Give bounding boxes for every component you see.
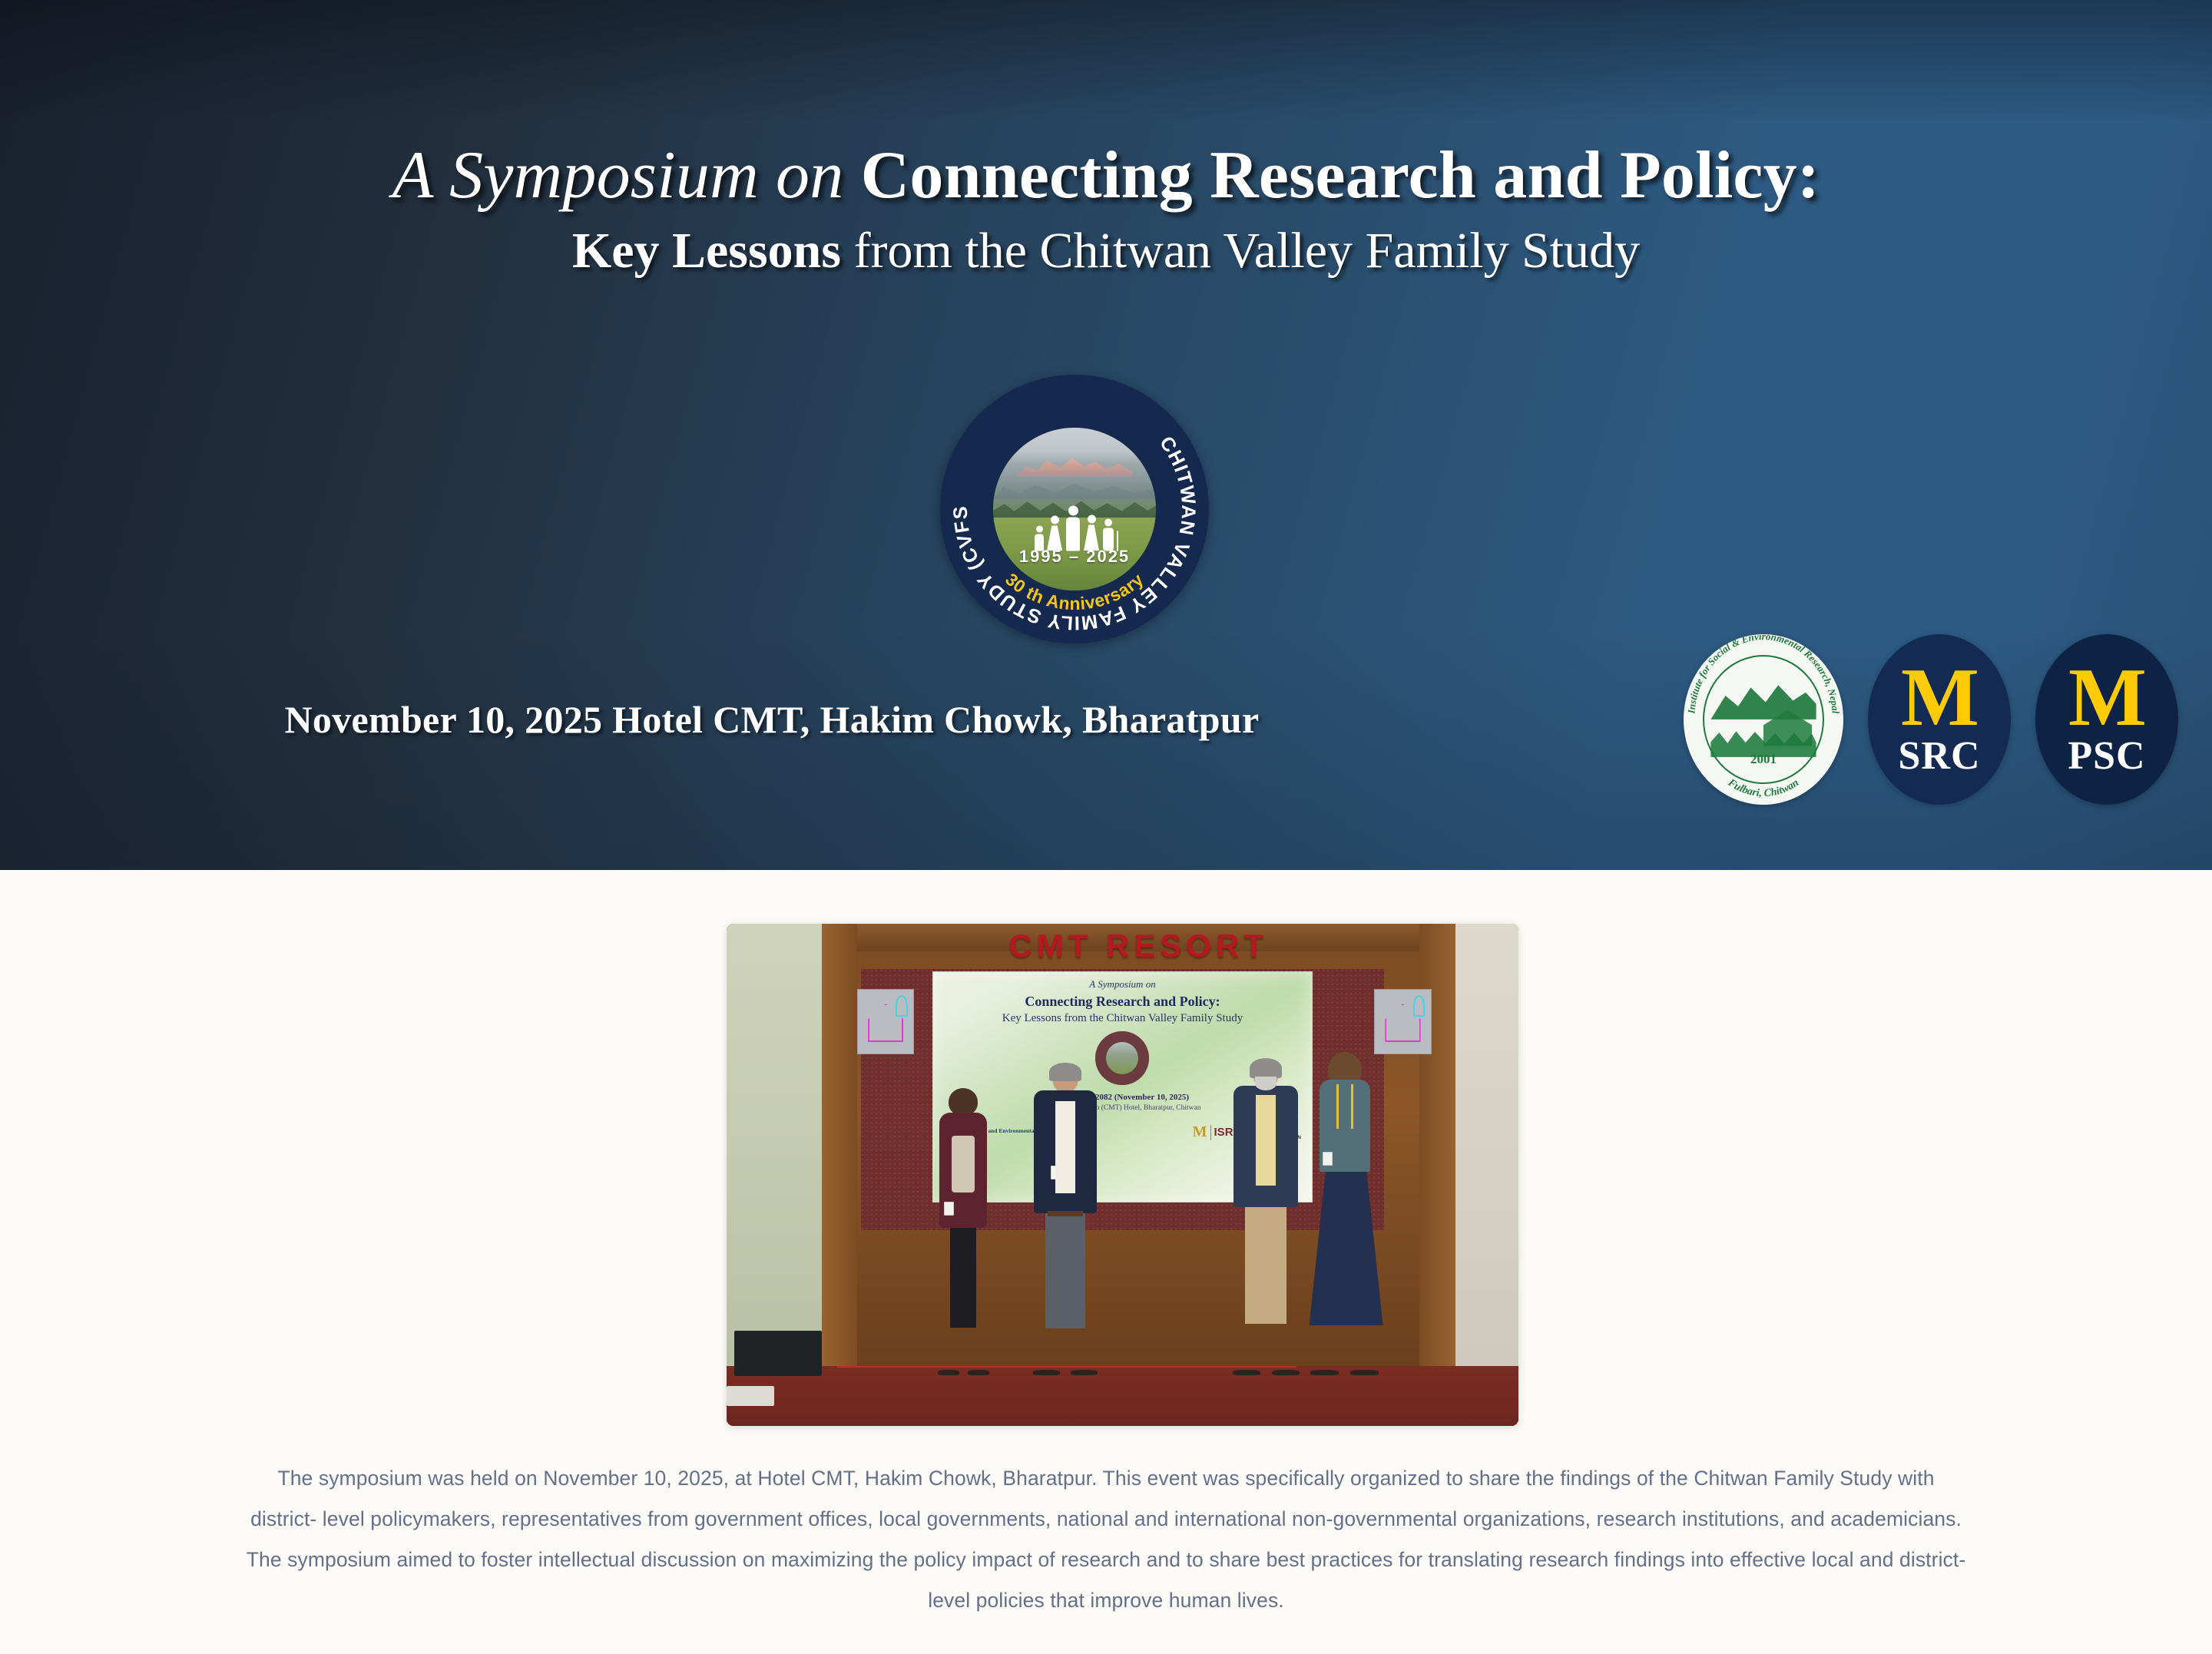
person-lanyard [1336, 1084, 1353, 1129]
event-photo: CMT RESORT A Symposium on Connecting Res… [727, 924, 1518, 1426]
isern-logo: 2001 Institute for Social & Environmenta… [1684, 634, 1843, 805]
content-area: CMT RESORT A Symposium on Connecting Res… [0, 870, 2212, 1654]
umich-m-monogram: M [1901, 663, 1978, 734]
page-title: A Symposium on Connecting Research and P… [0, 0, 2212, 280]
umich-psc-label: PSC [2068, 736, 2145, 776]
person-shoes [1231, 1370, 1300, 1375]
umich-src-logo: M SRC [1868, 634, 2011, 805]
person-belt [1048, 1211, 1083, 1216]
name-badge [1323, 1152, 1333, 1166]
hero-banner: A Symposium on Connecting Research and P… [0, 0, 2212, 870]
cmt-resort-sign: CMT RESORT [822, 930, 1455, 960]
person-shirt [1055, 1101, 1075, 1193]
person-skirt [1310, 1172, 1383, 1325]
person-hair [1250, 1058, 1282, 1078]
title-line-2: Key Lessons from the Chitwan Valley Fami… [0, 223, 2212, 280]
umich-src-label: SRC [1898, 736, 1980, 776]
person-scarf [952, 1136, 975, 1193]
svg-text:30 th Anniversary: 30 th Anniversary [1002, 569, 1147, 614]
palm-tree-icon [896, 995, 908, 1017]
person-shirt [1256, 1095, 1276, 1186]
person-hair [949, 1088, 978, 1116]
banner-eyebrow: A Symposium on [933, 978, 1312, 991]
cvfs-anniversary-ring: 30 th Anniversary [940, 375, 1209, 643]
photo-wall-left [727, 924, 829, 1366]
photo-wood-column-left [822, 924, 857, 1366]
title-bold-part: Connecting Research and Policy: [861, 138, 1820, 213]
person-legs [1245, 1207, 1286, 1324]
photo-person-3 [1231, 1060, 1300, 1371]
person-legs [1045, 1213, 1085, 1328]
banner-umich-m: M [1193, 1123, 1207, 1141]
name-badge [944, 1202, 954, 1216]
photo-av-equipment [734, 1331, 821, 1376]
banner-title: Connecting Research and Policy: [933, 994, 1312, 1010]
person-hair [1049, 1063, 1081, 1081]
isern-disc: 2001 Institute for Social & Environmenta… [1684, 634, 1843, 805]
svg-text:Institute for Social & Environ: Institute for Social & Environmental Res… [1685, 634, 1842, 715]
cvfs-logo: 1995 – 2025 CHITWAN VALLEY FAMILY STUDY … [940, 375, 1209, 643]
umich-m-monogram: M [2068, 663, 2145, 734]
person-torso [1034, 1090, 1097, 1213]
event-description: The symposium was held on November 10, 2… [242, 1458, 1970, 1621]
neon-house-sign-left [857, 989, 914, 1054]
banner-subtitle: Key Lessons from the Chitwan Valley Fami… [933, 1012, 1312, 1025]
palm-tree-icon [1413, 995, 1426, 1017]
banner-cvfs-seal [1095, 1031, 1149, 1085]
person-torso [1233, 1086, 1298, 1207]
isern-ring-text: Institute for Social & Environmental Res… [1684, 634, 1843, 805]
banner-divider [1210, 1125, 1211, 1140]
partner-logos: 2001 Institute for Social & Environmenta… [1684, 634, 2178, 805]
photo-person-1 [936, 1090, 990, 1371]
svg-text:Fulbari, Chitwan: Fulbari, Chitwan [1725, 776, 1801, 799]
person-shoes [1031, 1370, 1099, 1375]
person-legs [950, 1228, 976, 1328]
person-beard [1255, 1077, 1277, 1090]
person-shoes [936, 1370, 990, 1375]
title-line-1: A Symposium on Connecting Research and P… [0, 140, 2212, 211]
person-torso [939, 1113, 987, 1228]
cvfs-seal-disc: 1995 – 2025 CHITWAN VALLEY FAMILY STUDY … [940, 375, 1209, 643]
photo-av-equipment-2 [727, 1386, 774, 1406]
person-torso [1320, 1080, 1370, 1172]
photo-person-2 [1031, 1064, 1099, 1371]
banner-isr-abbrev: ISR [1214, 1126, 1233, 1139]
neon-house-sign-right [1374, 989, 1431, 1054]
person-shoes [1310, 1370, 1380, 1375]
photo-person-4 [1310, 1054, 1380, 1371]
photo-wall-right [1455, 924, 1518, 1366]
title-italic-part: A Symposium on [392, 138, 861, 213]
umich-psc-logo: M PSC [2035, 634, 2178, 805]
photo-floor-right [1447, 1366, 1518, 1426]
subtitle-bold-part: Key Lessons [572, 223, 854, 279]
subtitle-regular-part: from the Chitwan Valley Family Study [854, 223, 1641, 279]
event-date-venue: November 10, 2025 Hotel CMT, Hakim Chowk… [0, 697, 1544, 742]
